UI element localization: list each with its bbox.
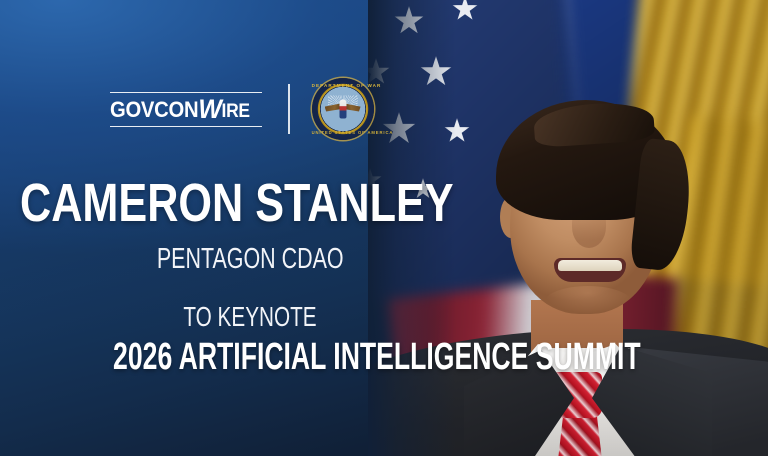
seal-top-text: DEPARTMENT OF WAR (312, 83, 374, 88)
announcement-event-text: 2026 ARTIFICIAL INTELLIGENCE SUMMIT (113, 338, 641, 376)
logo-text-primary: GOVCON (110, 97, 198, 122)
eagle-icon (326, 97, 360, 121)
speaker-organization-text: PENTAGON CDAO (157, 245, 344, 274)
speaker-name: CAMERON STANLEY (20, 176, 454, 230)
department-of-war-seal-icon: DEPARTMENT OF WAR UNITED STATES OF AMERI… (312, 78, 374, 140)
govconwire-logo-text: GOVCONWIRE (110, 96, 250, 123)
govconwire-logo[interactable]: GOVCONWIRE (110, 92, 262, 127)
seal-bottom-text: UNITED STATES OF AMERICA (312, 130, 374, 135)
announcement-banner: GOVCONWIRE DEPARTMENT OF WAR UNITED STAT… (0, 0, 768, 456)
banner-content: GOVCONWIRE DEPARTMENT OF WAR UNITED STAT… (0, 0, 500, 456)
announcement-action-text: TO KEYNOTE (183, 303, 316, 331)
brand-divider (288, 84, 290, 134)
announcement-action: TO KEYNOTE (0, 303, 500, 331)
brand-row: GOVCONWIRE DEPARTMENT OF WAR UNITED STAT… (110, 78, 374, 140)
logo-text-secondary: IRE (221, 101, 249, 122)
announcement-event: 2026 ARTIFICIAL INTELLIGENCE SUMMIT (0, 338, 500, 376)
speaker-organization: PENTAGON CDAO (0, 245, 500, 274)
logo-text-w: W (198, 94, 221, 124)
